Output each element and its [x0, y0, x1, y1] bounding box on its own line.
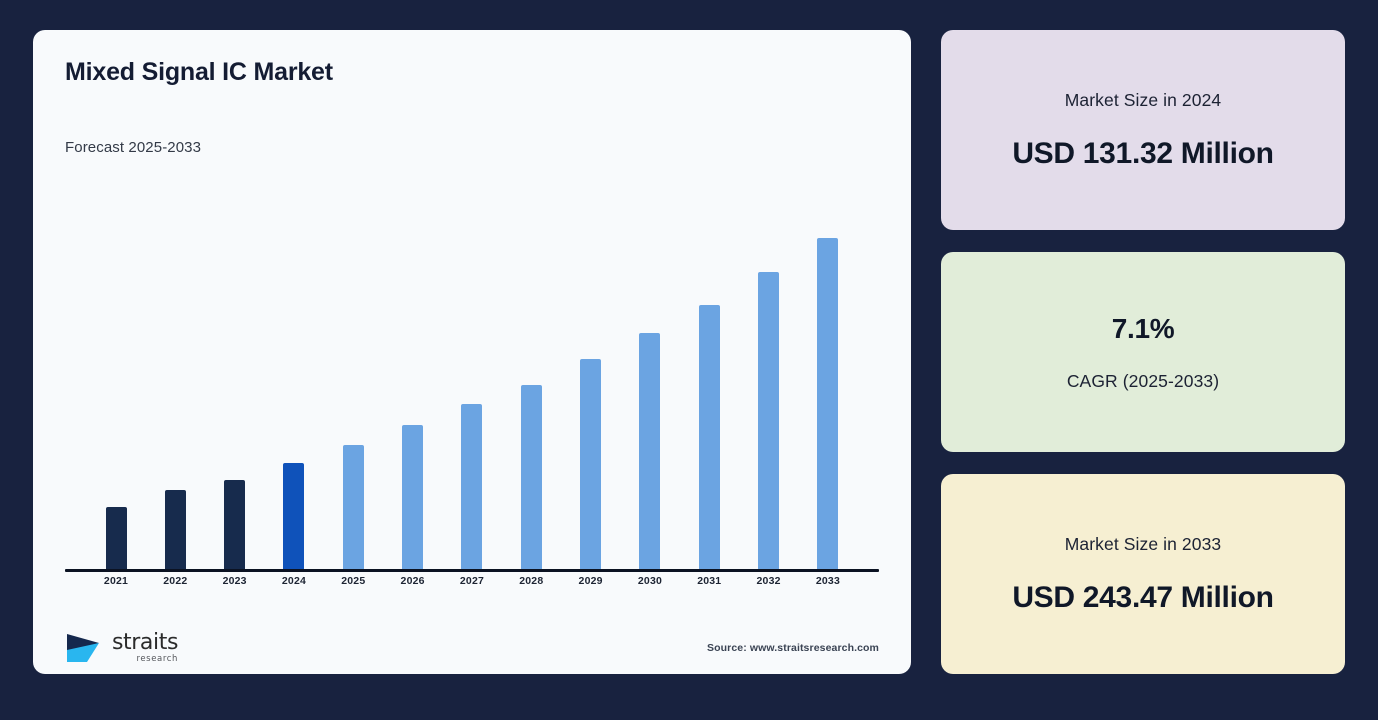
straits-research-logo: straits research [65, 630, 178, 666]
plot-area [65, 200, 879, 572]
chart-footer: straits research Source: www.straitsrese… [65, 622, 879, 674]
stat-card-label: Market Size in 2033 [1065, 534, 1222, 555]
stat-card-value: 7.1% [1112, 313, 1175, 345]
bar-slot [206, 203, 264, 569]
bar-2032[interactable] [758, 272, 779, 569]
bar-slot [562, 203, 620, 569]
stat-card-cagr: 7.1%CAGR (2025-2033) [941, 252, 1345, 452]
bar-2022[interactable] [165, 490, 186, 569]
x-tick-2022: 2022 [146, 575, 204, 587]
chart-panel: Mixed Signal IC Market Forecast 2025-203… [33, 30, 911, 674]
x-axis-line [65, 569, 879, 572]
bar-2030[interactable] [639, 333, 660, 569]
logo-arrow-icon [65, 630, 105, 666]
infographic-root: Mixed Signal IC Market Forecast 2025-203… [0, 0, 1378, 720]
bar-2021[interactable] [106, 507, 127, 569]
bar-2023[interactable] [224, 480, 245, 569]
x-tick-2026: 2026 [384, 575, 442, 587]
x-tick-2021: 2021 [87, 575, 145, 587]
bar-2029[interactable] [580, 359, 601, 569]
stat-card-value: USD 131.32 Million [1012, 137, 1273, 171]
bar-2025[interactable] [343, 445, 364, 569]
bar-2033[interactable] [817, 238, 838, 569]
page-title: Mixed Signal IC Market [65, 58, 879, 87]
logo-word: straits [112, 632, 178, 654]
bar-series [65, 203, 879, 569]
x-tick-2032: 2032 [740, 575, 798, 587]
x-tick-2030: 2030 [621, 575, 679, 587]
bar-2031[interactable] [699, 305, 720, 569]
x-tick-2027: 2027 [443, 575, 501, 587]
x-tick-2031: 2031 [680, 575, 738, 587]
bar-slot [740, 203, 798, 569]
bar-slot [324, 203, 382, 569]
logo-subword: research [136, 655, 178, 664]
x-axis-labels: 2021202220232024202520262027202820292030… [65, 575, 879, 587]
stat-card-label: Market Size in 2024 [1065, 90, 1222, 111]
bar-2028[interactable] [521, 385, 542, 569]
x-tick-2028: 2028 [502, 575, 560, 587]
stat-card-market-size-2024: Market Size in 2024USD 131.32 Million [941, 30, 1345, 230]
stat-card-value: USD 243.47 Million [1012, 581, 1273, 615]
logo-wordmark: straits research [112, 632, 178, 664]
x-tick-2033: 2033 [799, 575, 857, 587]
bar-2027[interactable] [461, 404, 482, 569]
bar-slot [799, 203, 857, 569]
x-tick-2025: 2025 [324, 575, 382, 587]
bar-slot [146, 203, 204, 569]
x-tick-2024: 2024 [265, 575, 323, 587]
bar-2024[interactable] [283, 463, 304, 569]
x-tick-2023: 2023 [206, 575, 264, 587]
source-attribution: Source: www.straitsresearch.com [707, 642, 879, 654]
bar-slot [443, 203, 501, 569]
stat-card-label: CAGR (2025-2033) [1067, 371, 1219, 392]
bar-slot [502, 203, 560, 569]
bar-slot [384, 203, 442, 569]
stat-cards: Market Size in 2024USD 131.32 Million7.1… [941, 30, 1345, 674]
stat-card-market-size-2033: Market Size in 2033USD 243.47 Million [941, 474, 1345, 674]
bar-slot [621, 203, 679, 569]
x-tick-2029: 2029 [562, 575, 620, 587]
bar-slot [87, 203, 145, 569]
chart-subtitle: Forecast 2025-2033 [65, 139, 879, 156]
bar-slot [680, 203, 738, 569]
bar-2026[interactable] [402, 425, 423, 569]
bar-slot [265, 203, 323, 569]
